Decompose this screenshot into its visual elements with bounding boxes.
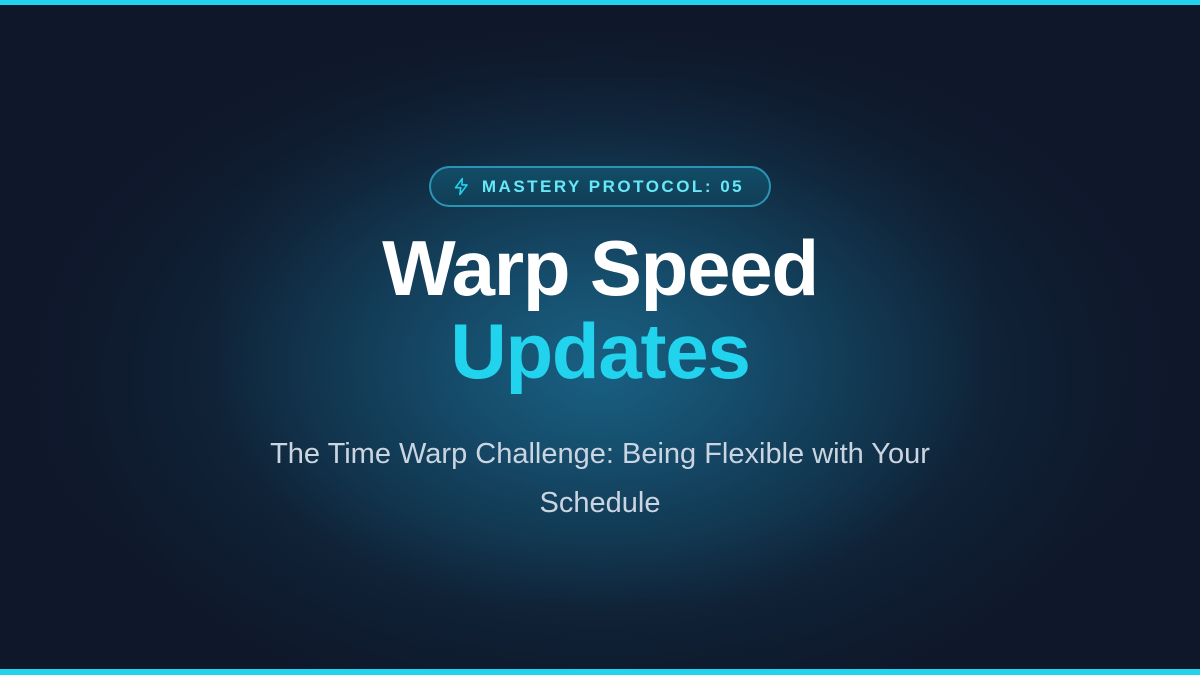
slide-content: MASTERY PROTOCOL: 05 Warp Speed Updates … [0, 0, 1200, 675]
bottom-accent-bar [0, 669, 1200, 675]
protocol-badge-label: MASTERY PROTOCOL: 05 [482, 178, 744, 195]
page-title: Warp Speed Updates [382, 227, 818, 392]
protocol-badge: MASTERY PROTOCOL: 05 [429, 166, 771, 207]
slide-subtitle: The Time Warp Challenge: Being Flexible … [220, 430, 980, 527]
top-accent-bar [0, 0, 1200, 5]
lightning-bolt-icon [452, 177, 471, 196]
headline-line-primary: Warp Speed [382, 227, 818, 310]
headline-line-accent: Updates [382, 310, 818, 393]
presentation-slide: MASTERY PROTOCOL: 05 Warp Speed Updates … [0, 0, 1200, 675]
